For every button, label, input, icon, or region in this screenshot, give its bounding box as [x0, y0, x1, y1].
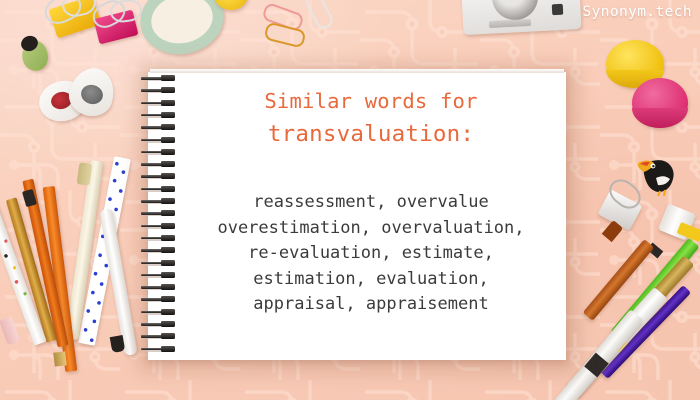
synonym-line: overestimation, overvaluation, — [186, 216, 556, 242]
toucan-sticker-icon — [634, 152, 686, 196]
camera-button-icon — [552, 4, 564, 16]
synonym-line: estimation, evaluation, — [186, 267, 556, 293]
synonym-line: reassessment, overvalue — [186, 190, 556, 216]
pencil-orange-ferrule-icon — [53, 351, 67, 366]
page-content: Similar words for transvaluation: reasse… — [186, 86, 556, 318]
synonym-word-list: reassessment, overvalueoverestimation, o… — [186, 190, 556, 318]
thesaurus-image-card: Similar words for transvaluation: reasse… — [0, 0, 700, 400]
page-title-query-word: transvaluation: — [186, 118, 556, 150]
synonym-line: re-evaluation, estimate, — [186, 241, 556, 267]
pen-white-tip-icon — [110, 335, 126, 353]
page-title-line-1: Similar words for — [186, 86, 556, 116]
site-logo[interactable]: Synonym.tech — [582, 4, 692, 20]
synonym-line: appraisal, appraisement — [186, 292, 556, 318]
page-top-edge — [150, 69, 564, 73]
